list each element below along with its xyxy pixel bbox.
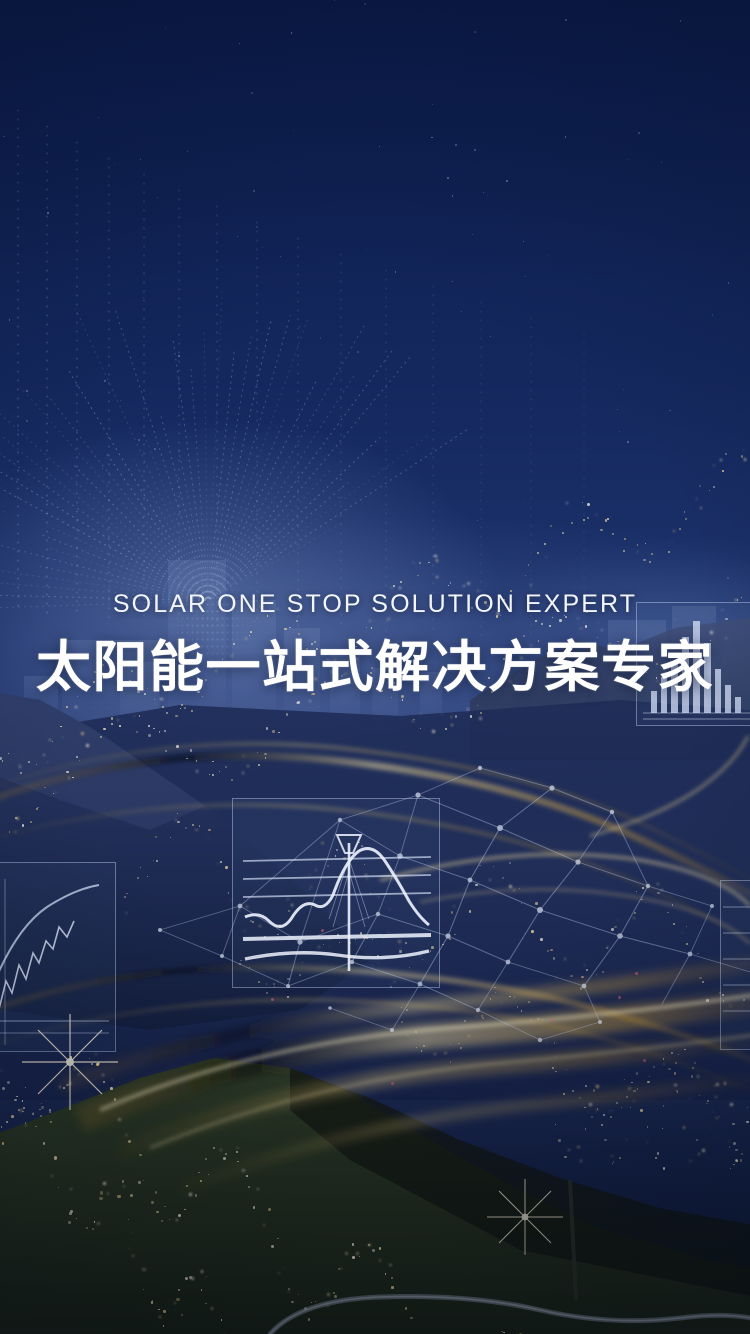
line-chart-icon (0, 863, 117, 1053)
road-highlight (270, 1297, 750, 1334)
wave-chart-icon (233, 799, 441, 989)
banner-headline: 太阳能一站式解决方案专家 (0, 639, 750, 697)
winding-road (270, 1297, 750, 1334)
lower-bright-trails (60, 962, 750, 1190)
grid-lines-icon (721, 881, 750, 1051)
banner-copy: SOLAR ONE STOP SOLUTION EXPERT 太阳能一站式解决方… (0, 592, 750, 697)
solar-banner: SOLAR ONE STOP SOLUTION EXPERT 太阳能一站式解决方… (0, 0, 750, 1334)
flare-b (487, 1179, 563, 1255)
trail-highlights (100, 994, 750, 1148)
forest-hill (0, 1058, 750, 1334)
hud-panel-far-right (720, 880, 750, 1050)
left-mountain-face (0, 690, 205, 830)
hud-panel-center (232, 798, 440, 988)
hud-panel-left (0, 862, 116, 1052)
tower (570, 1180, 576, 1300)
banner-eyebrow: SOLAR ONE STOP SOLUTION EXPERT (0, 592, 750, 617)
forest-shadow (290, 1068, 750, 1300)
